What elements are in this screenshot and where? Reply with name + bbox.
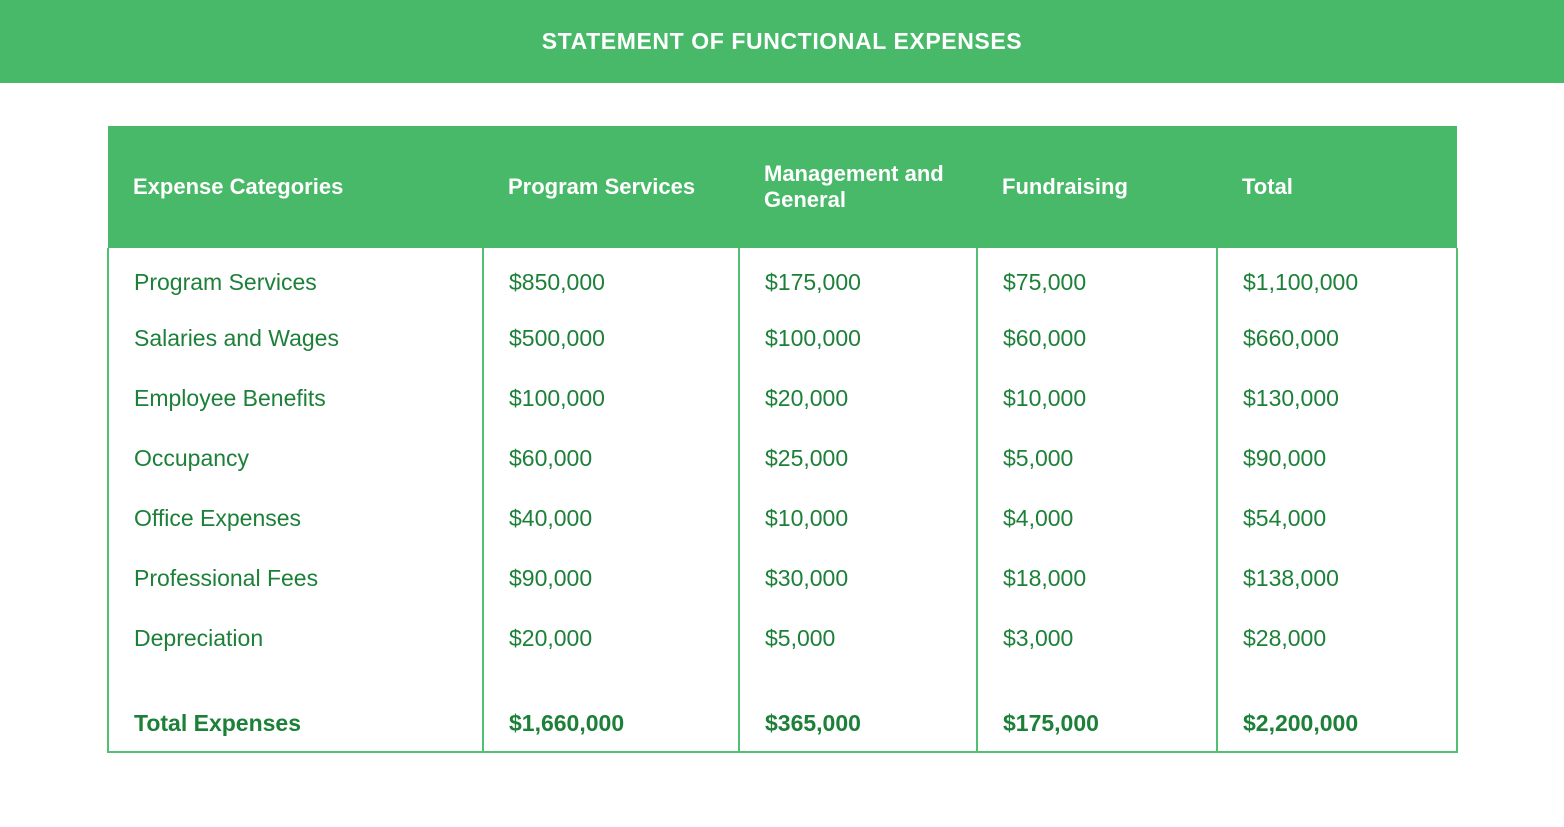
expense-table-container: Expense Categories Program Services Mana… [107, 126, 1456, 753]
column-header-management-and-general: Management and General [739, 126, 977, 248]
cell-total: $1,100,000 [1217, 248, 1457, 308]
page-title: STATEMENT OF FUNCTIONAL EXPENSES [542, 28, 1023, 55]
table-row: Office Expenses $40,000 $10,000 $4,000 $… [108, 488, 1457, 548]
cell-fundraising: $18,000 [977, 548, 1217, 608]
table-row: Occupancy $60,000 $25,000 $5,000 $90,000 [108, 428, 1457, 488]
cell-total-label: Total Expenses [108, 668, 483, 752]
table-body: Program Services $850,000 $175,000 $75,0… [108, 248, 1457, 752]
cell-total-total: $2,200,000 [1217, 668, 1457, 752]
page-banner: STATEMENT OF FUNCTIONAL EXPENSES [0, 0, 1564, 83]
cell-management-and-general: $20,000 [739, 368, 977, 428]
cell-program-services: $90,000 [483, 548, 739, 608]
cell-total: $138,000 [1217, 548, 1457, 608]
cell-total: $28,000 [1217, 608, 1457, 668]
cell-category: Office Expenses [108, 488, 483, 548]
cell-management-and-general: $100,000 [739, 308, 977, 368]
cell-total-fundraising: $175,000 [977, 668, 1217, 752]
column-header-program-services: Program Services [483, 126, 739, 248]
column-header-fundraising: Fundraising [977, 126, 1217, 248]
cell-management-and-general: $5,000 [739, 608, 977, 668]
cell-management-and-general: $30,000 [739, 548, 977, 608]
cell-program-services: $500,000 [483, 308, 739, 368]
cell-total: $90,000 [1217, 428, 1457, 488]
table-row: Depreciation $20,000 $5,000 $3,000 $28,0… [108, 608, 1457, 668]
cell-total: $660,000 [1217, 308, 1457, 368]
cell-management-and-general: $10,000 [739, 488, 977, 548]
table-row: Salaries and Wages $500,000 $100,000 $60… [108, 308, 1457, 368]
cell-fundraising: $75,000 [977, 248, 1217, 308]
cell-program-services: $100,000 [483, 368, 739, 428]
cell-program-services: $60,000 [483, 428, 739, 488]
cell-category: Program Services [108, 248, 483, 308]
column-header-total: Total [1217, 126, 1457, 248]
table-header: Expense Categories Program Services Mana… [108, 126, 1457, 248]
cell-program-services: $40,000 [483, 488, 739, 548]
cell-program-services: $850,000 [483, 248, 739, 308]
cell-category: Salaries and Wages [108, 308, 483, 368]
cell-management-and-general: $175,000 [739, 248, 977, 308]
functional-expenses-table: Expense Categories Program Services Mana… [107, 126, 1458, 753]
table-row: Employee Benefits $100,000 $20,000 $10,0… [108, 368, 1457, 428]
table-total-row: Total Expenses $1,660,000 $365,000 $175,… [108, 668, 1457, 752]
cell-fundraising: $10,000 [977, 368, 1217, 428]
cell-management-and-general: $25,000 [739, 428, 977, 488]
cell-program-services: $20,000 [483, 608, 739, 668]
cell-category: Employee Benefits [108, 368, 483, 428]
cell-fundraising: $5,000 [977, 428, 1217, 488]
table-row: Program Services $850,000 $175,000 $75,0… [108, 248, 1457, 308]
column-header-expense-categories: Expense Categories [108, 126, 483, 248]
cell-fundraising: $60,000 [977, 308, 1217, 368]
cell-total: $130,000 [1217, 368, 1457, 428]
cell-total-program-services: $1,660,000 [483, 668, 739, 752]
cell-category: Occupancy [108, 428, 483, 488]
cell-fundraising: $3,000 [977, 608, 1217, 668]
cell-total: $54,000 [1217, 488, 1457, 548]
table-row: Professional Fees $90,000 $30,000 $18,00… [108, 548, 1457, 608]
cell-total-management-and-general: $365,000 [739, 668, 977, 752]
cell-category: Depreciation [108, 608, 483, 668]
table-header-row: Expense Categories Program Services Mana… [108, 126, 1457, 248]
cell-category: Professional Fees [108, 548, 483, 608]
cell-fundraising: $4,000 [977, 488, 1217, 548]
